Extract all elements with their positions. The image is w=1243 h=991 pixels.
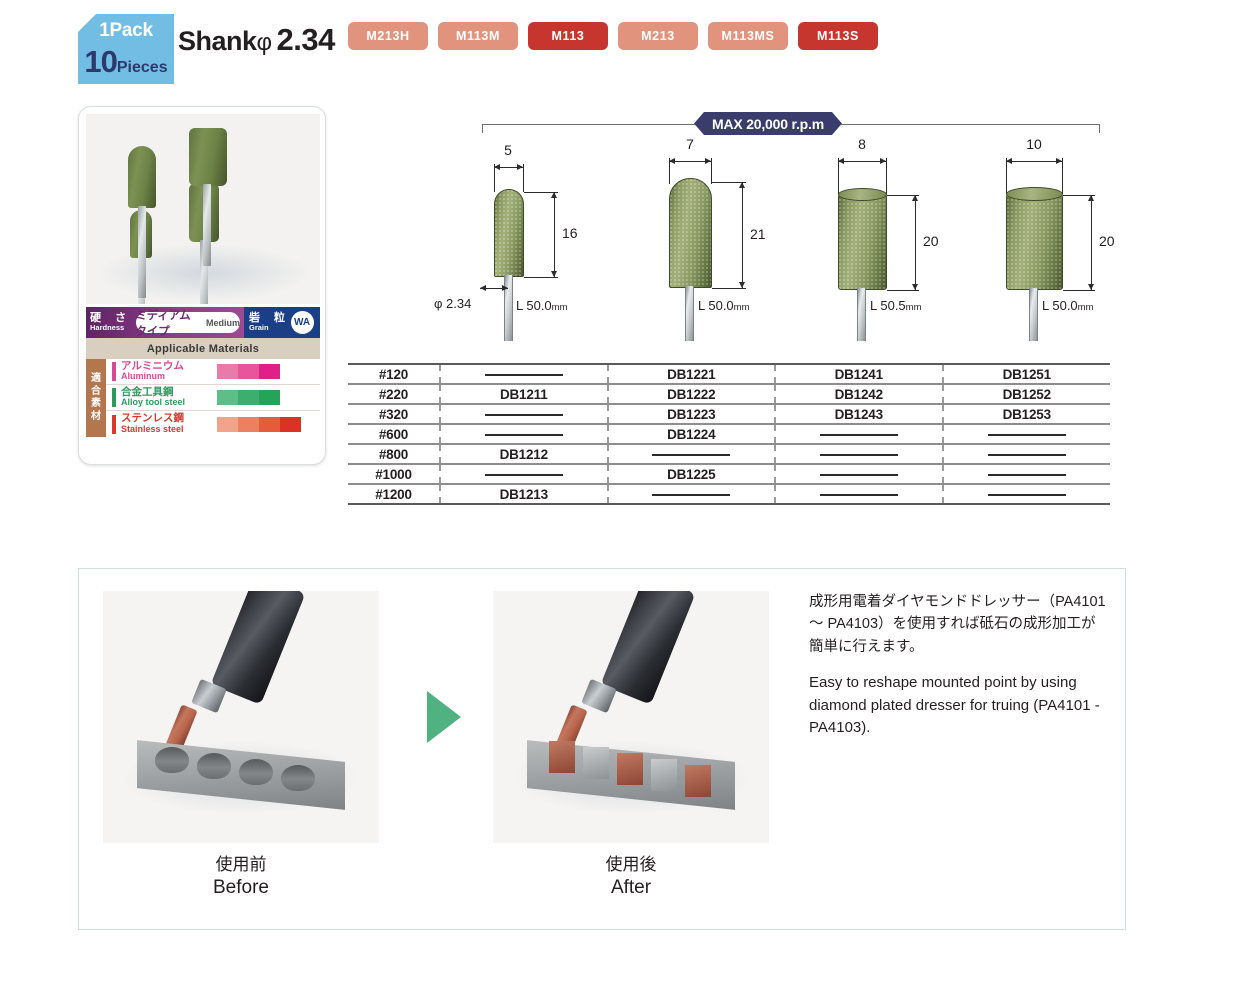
before-caption-jp: 使用前: [103, 854, 379, 876]
process-arrow-icon: [427, 691, 461, 743]
shank-phi-symbol: φ: [257, 29, 273, 56]
part-number-cell: DB1213: [440, 484, 608, 504]
pack-quantity-badge: 1Pack 10Pieces: [78, 14, 174, 84]
not-available-dash: [988, 474, 1066, 476]
material-level-swatch: [217, 417, 301, 432]
not-available-dash: [652, 454, 730, 456]
empty-cell: [440, 424, 608, 444]
length-label-4: L 50.0mm: [1042, 298, 1094, 313]
diameter-dim-arrow-1: [494, 167, 523, 168]
material-accent-bar: [112, 388, 116, 407]
swatch-cell: [238, 364, 259, 379]
table-row: #1200DB1213: [348, 484, 1110, 504]
grit-cell: #220: [348, 384, 440, 404]
material-label-en: Aluminum: [121, 372, 215, 382]
tool-shank-4: [1029, 288, 1038, 341]
height-dim-arrow-3: [915, 195, 916, 290]
grit-cell: #320: [348, 404, 440, 424]
abrasive-head: [189, 128, 227, 186]
applicable-materials-title: Applicable Materials: [86, 338, 320, 359]
length-value-3: L 50.5: [870, 298, 906, 313]
description-en: Easy to reshape mounted point by using d…: [809, 672, 1109, 740]
swatch-cell: [217, 417, 238, 432]
applicable-materials-side-label: 適合素材: [86, 359, 106, 437]
diameter-dim-arrow-4: [1006, 161, 1062, 162]
table-row: #220DB1211DB1222DB1242DB1252: [348, 384, 1110, 404]
dimension-diagram: MAX 20,000 r.p.m 5 16 φ 2.34 L 50.0mm 7 …: [336, 106, 1126, 356]
not-available-dash: [485, 434, 563, 436]
part-number-cell: DB1225: [608, 464, 776, 484]
diameter-label-1: 5: [488, 142, 528, 158]
workpiece-groove: [155, 747, 189, 773]
material-row: アルミニウムAluminum: [106, 359, 320, 385]
height-dim-arrow-2: [742, 182, 743, 288]
shank-dim-arrow: [480, 288, 508, 289]
table-row: #1000DB1225: [348, 464, 1110, 484]
hardness-value-pill: ミディアムタイプ Medium: [136, 312, 241, 333]
empty-cell: [775, 464, 943, 484]
diameter-label-2: 7: [664, 136, 716, 152]
grain-value-badge: WA: [291, 311, 314, 334]
steel-shank: [203, 184, 211, 266]
applicable-materials-body: 適合素材 アルミニウムAluminum合金工具鋼Alloy tool steel…: [86, 359, 320, 437]
length-label-1: L 50.0mm: [516, 298, 568, 313]
ext-line: [712, 288, 746, 289]
swatch-cell: [259, 390, 280, 405]
description-jp: 成形用電着ダイヤモンドドレッサー（PA4101 ～ PA4103）を使用すれば砥…: [809, 591, 1109, 658]
workpiece-tooth: [685, 765, 711, 797]
part-number-grid: #120DB1221DB1241DB1251#220DB1211DB1222DB…: [348, 363, 1110, 505]
material-accent-bar: [112, 362, 116, 381]
not-available-dash: [988, 494, 1066, 496]
ext-line: [886, 158, 887, 194]
workpiece-groove: [281, 765, 315, 791]
diameter-label-4: 10: [1004, 136, 1064, 152]
grain-section: 砦 粒 Grain WA: [244, 307, 320, 338]
model-badge-m213h[interactable]: M213H: [348, 22, 428, 50]
ext-line: [523, 164, 524, 192]
swatch-cell: [259, 364, 280, 379]
before-photo: [103, 591, 379, 843]
material-label: ステンレス鋼Stainless steel: [121, 413, 215, 434]
grain-label-en: Grain: [249, 324, 287, 332]
not-available-dash: [820, 454, 898, 456]
hardness-label: 硬 さ Hardness: [90, 313, 128, 332]
length-value-4: L 50.0: [1042, 298, 1078, 313]
steel-shank: [138, 206, 146, 298]
part-number-cell: DB1251: [943, 364, 1111, 384]
ext-line: [887, 290, 919, 291]
usage-description: 成形用電着ダイヤモンドドレッサー（PA4101 ～ PA4103）を使用すれば砥…: [809, 591, 1109, 740]
model-badge-m213[interactable]: M213: [618, 22, 698, 50]
table-body: #120DB1221DB1241DB1251#220DB1211DB1222DB…: [348, 364, 1110, 504]
grit-cell: #1200: [348, 484, 440, 504]
model-badge-m113s[interactable]: M113S: [798, 22, 878, 50]
length-unit-3: mm: [906, 302, 922, 313]
tool-top-face-4: [1006, 187, 1063, 201]
empty-cell: [440, 404, 608, 424]
material-level-swatch: [217, 364, 280, 379]
diameter-dim-arrow-2: [669, 161, 711, 162]
material-row: ステンレス鋼Stainless steel: [106, 411, 320, 437]
empty-cell: [775, 484, 943, 504]
diameter-dim-arrow-3: [838, 161, 886, 162]
abrasive-head: [128, 146, 156, 208]
height-dim-arrow-1: [554, 192, 555, 277]
empty-cell: [775, 424, 943, 444]
part-number-cell: DB1211: [440, 384, 608, 404]
height-label-3: 20: [923, 233, 939, 249]
pack-label: 1Pack: [78, 20, 174, 42]
grain-label: 砦 粒 Grain: [249, 313, 287, 332]
swatch-cell: [217, 364, 238, 379]
part-number-cell: DB1212: [440, 444, 608, 464]
not-available-dash: [820, 494, 898, 496]
model-badge-list: M213HM113MM113M213M113MSM113S: [348, 22, 878, 50]
pack-pieces: 10Pieces: [78, 44, 174, 80]
part-number-cell: DB1241: [775, 364, 943, 384]
swatch-cell: [280, 417, 301, 432]
swatch-cell: [238, 390, 259, 405]
material-accent-bar: [112, 415, 116, 434]
empty-cell: [943, 444, 1111, 464]
not-available-dash: [988, 454, 1066, 456]
workpiece-tooth: [651, 759, 677, 791]
tool-body-1: [494, 189, 524, 277]
table-row: #320DB1223DB1243DB1253: [348, 404, 1110, 424]
material-label: 合金工具鋼Alloy tool steel: [121, 387, 215, 408]
ext-line: [524, 277, 558, 278]
grit-cell: #1000: [348, 464, 440, 484]
page-header: 1Pack 10Pieces Shankφ 2.34 M213HM113MM11…: [0, 0, 1243, 95]
not-available-dash: [485, 414, 563, 416]
not-available-dash: [820, 474, 898, 476]
part-number-cell: DB1223: [608, 404, 776, 424]
hardness-grain-row: 硬 さ Hardness ミディアムタイプ Medium 砦 粒 Grain W…: [86, 307, 320, 338]
height-label-1: 16: [562, 225, 578, 241]
length-unit-2: mm: [734, 302, 750, 313]
product-photo: [86, 114, 320, 304]
part-number-table: #120DB1221DB1241DB1251#220DB1211DB1222DB…: [348, 363, 1110, 505]
not-available-dash: [485, 374, 563, 376]
ext-line: [1062, 158, 1063, 194]
hardness-label-en: Hardness: [90, 324, 128, 332]
empty-cell: [943, 484, 1111, 504]
tool-body-2: [669, 178, 712, 288]
table-row: #800DB1212: [348, 444, 1110, 464]
empty-cell: [440, 364, 608, 384]
empty-cell: [775, 444, 943, 464]
hardness-value-en: Medium: [206, 318, 240, 328]
material-label-en: Alloy tool steel: [121, 398, 215, 408]
workpiece-groove: [197, 753, 231, 779]
before-caption: 使用前 Before: [103, 854, 379, 901]
part-number-cell: DB1221: [608, 364, 776, 384]
part-number-cell: DB1222: [608, 384, 776, 404]
empty-cell: [608, 444, 776, 464]
tool-shank-3: [857, 288, 866, 341]
pack-unit: Pieces: [117, 59, 168, 76]
grit-cell: #600: [348, 424, 440, 444]
height-label-4: 20: [1099, 233, 1115, 249]
hardness-value-jp: ミディアムタイプ: [136, 307, 201, 339]
height-label-2: 21: [750, 226, 766, 242]
material-row-list: アルミニウムAluminum合金工具鋼Alloy tool steelステンレス…: [106, 359, 320, 437]
workpiece-tooth: [549, 741, 575, 773]
not-available-dash: [820, 434, 898, 436]
part-number-cell: DB1224: [608, 424, 776, 444]
height-dim-arrow-4: [1091, 195, 1092, 290]
material-label: アルミニウムAluminum: [121, 361, 215, 382]
tool-shank-2: [685, 286, 694, 341]
before-caption-en: Before: [103, 876, 379, 901]
length-label-2: L 50.0mm: [698, 298, 750, 313]
workpiece-tooth: [617, 753, 643, 785]
not-available-dash: [988, 434, 1066, 436]
specification-block: 硬 さ Hardness ミディアムタイプ Medium 砦 粒 Grain W…: [86, 307, 320, 437]
empty-cell: [943, 424, 1111, 444]
model-badge-m113m[interactable]: M113M: [438, 22, 518, 50]
after-caption: 使用後 After: [493, 854, 769, 901]
part-number-cell: DB1252: [943, 384, 1111, 404]
tool-body-3: [838, 194, 887, 290]
swatch-cell: [217, 390, 238, 405]
diameter-label-3: 8: [834, 136, 890, 152]
hardness-section: 硬 さ Hardness ミディアムタイプ Medium: [86, 307, 244, 338]
ext-line: [1063, 290, 1095, 291]
ext-line: [711, 158, 712, 184]
max-rpm-banner: MAX 20,000 r.p.m: [694, 112, 842, 135]
table-row: #120DB1221DB1241DB1251: [348, 364, 1110, 384]
length-value-2: L 50.0: [698, 298, 734, 313]
tool-body-4: [1006, 194, 1063, 290]
empty-cell: [943, 464, 1111, 484]
part-number-cell: DB1243: [775, 404, 943, 424]
tool-top-face-3: [838, 188, 887, 201]
length-unit-4: mm: [1078, 302, 1094, 313]
shank-diameter-value: 2.34: [277, 22, 335, 57]
material-level-swatch: [217, 390, 280, 405]
pack-count: 10: [84, 44, 116, 79]
page-title: Shankφ 2.34: [178, 22, 335, 58]
length-unit-1: mm: [552, 302, 568, 313]
after-caption-en: After: [493, 876, 769, 901]
table-row: #600DB1224: [348, 424, 1110, 444]
shank-phi-label: φ 2.34: [434, 296, 471, 311]
empty-cell: [608, 484, 776, 504]
after-photo: [493, 591, 769, 843]
model-badge-m113ms[interactable]: M113MS: [708, 22, 788, 50]
usage-example-panel: 使用前 Before 使用後 After 成形用電着ダイヤモンドドレッサー（PA…: [78, 568, 1126, 930]
not-available-dash: [652, 494, 730, 496]
part-number-cell: DB1253: [943, 404, 1111, 424]
length-value-1: L 50.0: [516, 298, 552, 313]
swatch-cell: [238, 417, 259, 432]
material-row: 合金工具鋼Alloy tool steel: [106, 385, 320, 411]
empty-cell: [440, 464, 608, 484]
length-label-3: L 50.5mm: [870, 298, 922, 313]
shank-word: Shank: [178, 26, 257, 56]
material-label-en: Stainless steel: [121, 425, 215, 435]
part-number-cell: DB1242: [775, 384, 943, 404]
workpiece-groove: [239, 759, 273, 785]
swatch-cell: [259, 417, 280, 432]
model-badge-m113[interactable]: M113: [528, 22, 608, 50]
grit-cell: #800: [348, 444, 440, 464]
not-available-dash: [485, 474, 563, 476]
workpiece-tooth: [583, 747, 609, 779]
product-info-card: 硬 さ Hardness ミディアムタイプ Medium 砦 粒 Grain W…: [78, 106, 326, 465]
grit-cell: #120: [348, 364, 440, 384]
after-caption-jp: 使用後: [493, 854, 769, 876]
